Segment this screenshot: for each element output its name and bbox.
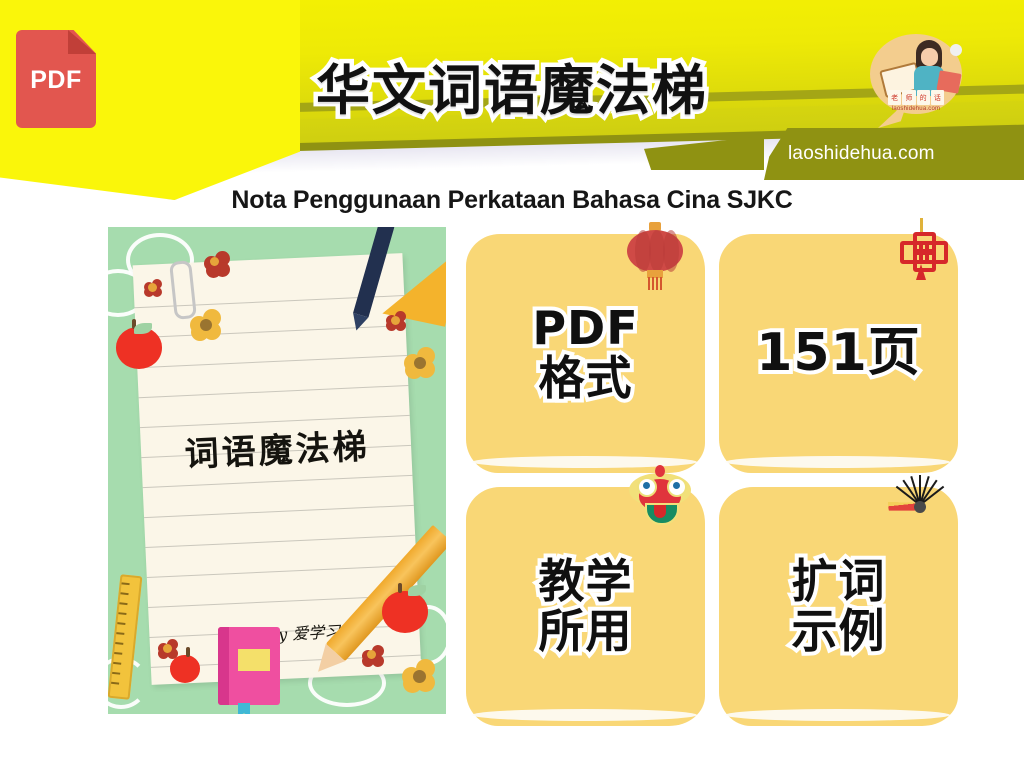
folding-fan-icon	[888, 471, 952, 523]
logo-tile-3: 的	[917, 90, 930, 105]
flower-decoration	[402, 659, 436, 693]
feature-card-page-count[interactable]: 151页	[719, 234, 958, 473]
book-icon	[218, 627, 280, 705]
logo-teacher-face	[921, 48, 938, 66]
feature-card-text: PDF 格式	[532, 304, 638, 403]
flower-decoration	[404, 347, 436, 379]
lion-dance-icon	[629, 467, 691, 525]
feature-card-text: 扩词 示例	[792, 557, 886, 656]
page-subtitle: Nota Penggunaan Perkataan Bahasa Cina SJ…	[0, 186, 1024, 215]
apple-leaf-icon	[408, 585, 426, 596]
book-cover-image: 词语魔法梯 VStuDy 爱学习	[108, 227, 446, 714]
feature-card-line1: 扩词	[792, 557, 886, 607]
feature-card-line2: 格式	[532, 354, 638, 404]
flower-decoration	[204, 251, 230, 277]
apple-icon	[382, 591, 428, 633]
logo-tile-1: 老	[888, 90, 901, 105]
feature-card-line2: 示例	[792, 607, 886, 657]
flower-decoration	[158, 639, 178, 659]
feature-card-pdf-format[interactable]: PDF 格式	[466, 234, 705, 473]
flower-decoration	[144, 279, 162, 297]
flower-decoration	[362, 645, 384, 667]
logo-tile-2: 师	[902, 90, 915, 105]
feature-card-word-examples[interactable]: 扩词 示例	[719, 487, 958, 726]
logo-url-text: laoshidehua.com	[866, 106, 966, 112]
chinese-knot-icon	[894, 218, 948, 284]
feature-card-text: 教学 所用	[539, 557, 633, 656]
feature-card-line1: 151页	[756, 325, 921, 381]
feature-cards-grid: PDF 格式 151页	[466, 234, 958, 726]
feature-card-line2: 所用	[539, 607, 633, 657]
flower-decoration	[386, 311, 406, 331]
feature-card-teaching-use[interactable]: 教学 所用	[466, 487, 705, 726]
flower-decoration	[190, 309, 222, 341]
logo-pointer-dot	[950, 44, 962, 56]
slide-canvas: PDF 华文词语魔法梯 laoshidehua.com 老 师 的 话 laos…	[0, 0, 1024, 768]
feature-card-line1: 教学	[539, 557, 633, 607]
logo-tile-4: 话	[931, 90, 944, 105]
website-url: laoshidehua.com	[788, 143, 935, 165]
feature-card-text: 151页	[756, 325, 921, 381]
feature-card-line1: PDF	[532, 304, 638, 354]
website-banner[interactable]: laoshidehua.com	[764, 128, 1024, 180]
brand-logo[interactable]: 老 师 的 话 laoshidehua.com	[866, 28, 966, 132]
apple-icon	[170, 655, 200, 683]
logo-name-tiles: 老 师 的 话	[888, 90, 944, 105]
lantern-icon	[627, 222, 683, 284]
